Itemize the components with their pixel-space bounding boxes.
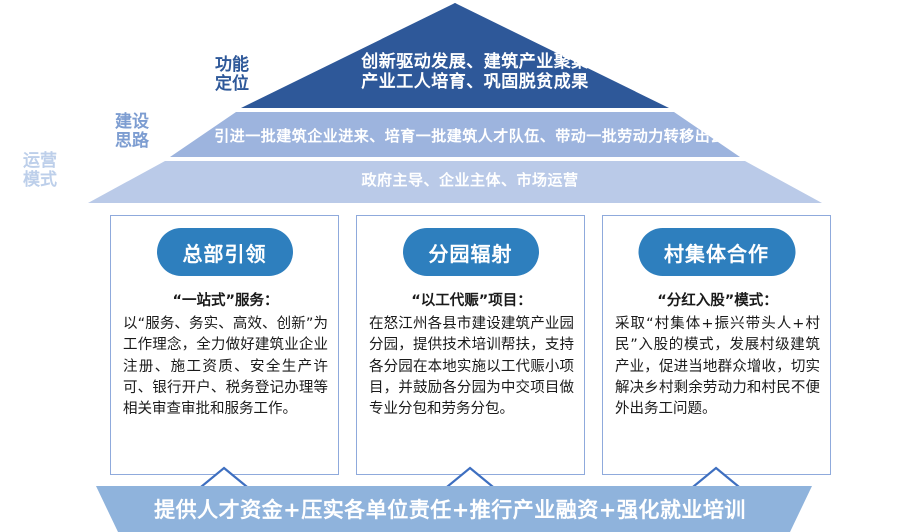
pyramid-tier-3-text: 政府主导、企业主体、市场运营 [160, 172, 780, 190]
strategy-card[interactable]: 村集体合作 “分红入股”模式： 采取“村集体+振兴带头人+村民”入股的模式，发展… [602, 215, 831, 475]
side-label-operating-model: 运营 模式 [4, 152, 76, 190]
card-pill-label: 村集体合作 [638, 228, 795, 276]
pyramid-tier-1-text: 创新驱动发展、建筑产业聚集 产业工人培育、巩固脱贫成果 [330, 52, 620, 92]
card-pill-label: 总部引领 [157, 228, 293, 276]
side-label-function-positioning: 功能 定位 [196, 56, 268, 94]
diagram-canvas: 创新驱动发展、建筑产业聚集 产业工人培育、巩固脱贫成果 引进一批建筑企业进来、培… [0, 0, 900, 532]
card-heading: “以工代赈”项目： [369, 292, 574, 310]
card-body-text: 在怒江州各县市建设建筑产业园分园，提供技术培训帮扶，支持各分园在本地实施以工代赈… [369, 314, 574, 421]
bottom-banner-text: 提供人才资金+压实各单位责任+推行产业融资+强化就业培训 [100, 494, 800, 524]
strategy-card[interactable]: 分园辐射 “以工代赈”项目： 在怒江州各县市建设建筑产业园分园，提供技术培训帮扶… [356, 215, 585, 475]
card-heading: “一站式”服务： [123, 292, 328, 310]
card-body-text: 以“服务、务实、高效、创新”为工作理念，全力做好建筑业企业注册、施工资质、安全生… [123, 314, 328, 421]
side-label-construction-approach: 建设 思路 [96, 113, 168, 151]
card-heading: “分红入股”模式： [615, 292, 820, 310]
card-body-text: 采取“村集体+振兴带头人+村民”入股的模式，发展村级建筑产业，促进当地群众增收，… [615, 314, 820, 421]
pyramid-tier-2-text: 引进一批建筑企业进来、培育一批建筑人才队伍、带动一批劳动力转移出去 [160, 128, 780, 146]
card-pill-label: 分园辐射 [403, 228, 539, 276]
strategy-card[interactable]: 总部引领 “一站式”服务： 以“服务、务实、高效、创新”为工作理念，全力做好建筑… [110, 215, 339, 475]
